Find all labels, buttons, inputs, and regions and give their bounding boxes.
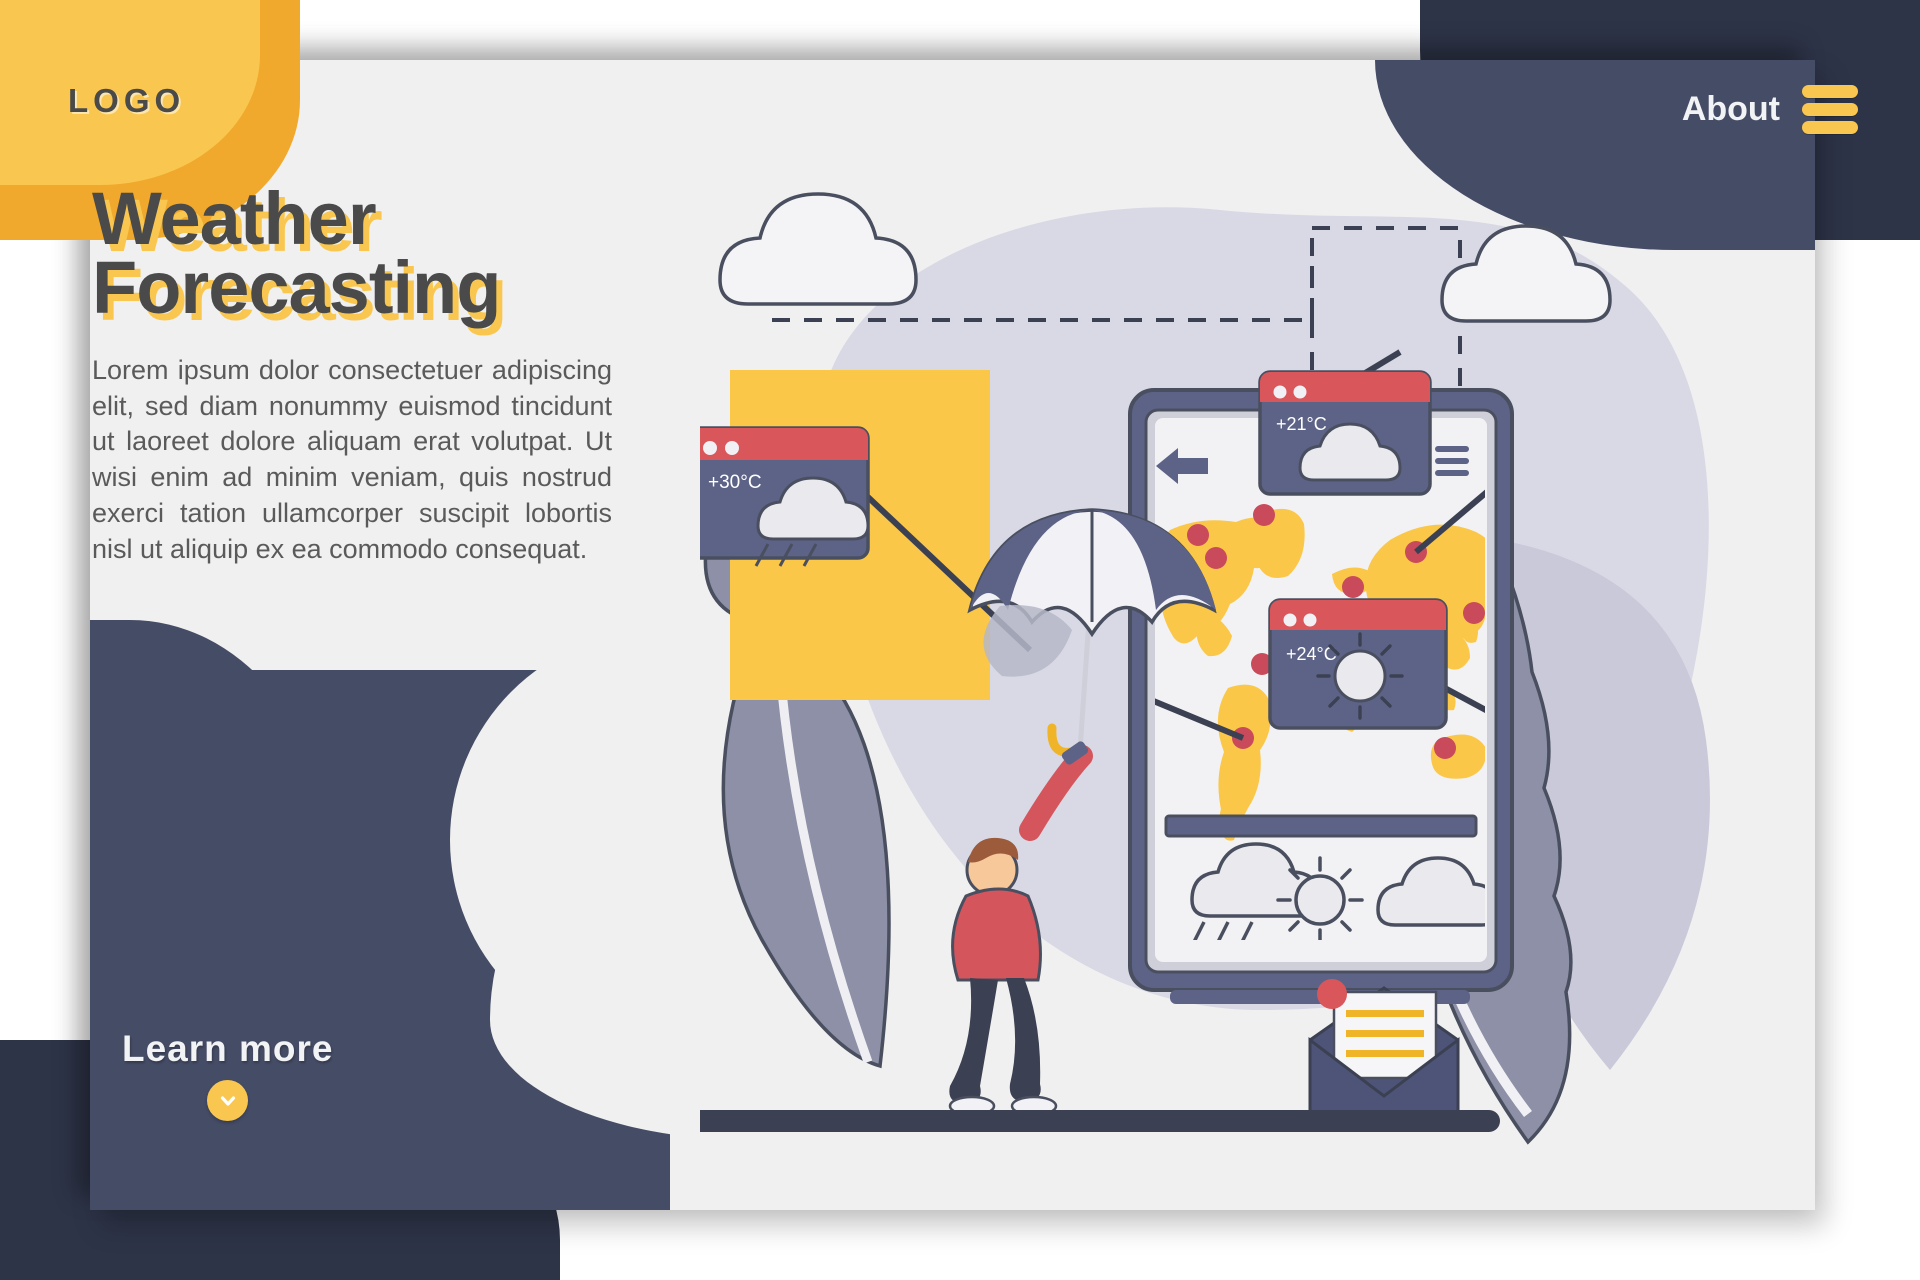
cloud-outline-icon: [720, 194, 916, 304]
hamburger-icon[interactable]: [1802, 85, 1858, 134]
nav-about-label[interactable]: About: [1682, 90, 1780, 129]
device-divider: [1166, 816, 1476, 836]
weather-card-30-temp: +30°C: [708, 472, 762, 493]
hero-copy: Weather Forecasting Lorem ipsum dolor co…: [92, 185, 712, 568]
chevron-down-icon[interactable]: [207, 1080, 248, 1121]
weather-card-24[interactable]: +24°C: [1270, 600, 1446, 728]
logo[interactable]: LOGO: [68, 82, 185, 120]
weather-card-21[interactable]: +21°C: [1260, 372, 1430, 494]
page-title-line2: Forecasting: [92, 246, 500, 329]
nav-about[interactable]: About: [1682, 85, 1858, 134]
ground-line: [700, 1110, 1500, 1132]
device-hamburger-icon[interactable]: [1435, 446, 1469, 476]
learn-more-label[interactable]: Learn more: [122, 1028, 334, 1070]
page-root: LOGO About Weather Forecasting Lorem ips…: [0, 0, 1920, 1280]
notification-dot: [1317, 979, 1347, 1009]
open-envelope-with-letter: [1310, 979, 1458, 1120]
decor-wave-bottom-left-upper: [90, 620, 330, 880]
forecast-sun-icon[interactable]: [1278, 858, 1362, 942]
sun-icon: [1318, 634, 1402, 718]
weather-card-21-temp: +21°C: [1276, 414, 1327, 434]
weather-card-30[interactable]: +30°C: [700, 428, 868, 566]
hero-body-text: Lorem ipsum dolor consectetuer adipiscin…: [92, 353, 612, 568]
weather-illustration: +30°C +21°C +24°C: [700, 110, 1820, 1180]
learn-more-button[interactable]: Learn more: [122, 1028, 334, 1121]
page-title: Weather Forecasting: [92, 185, 712, 323]
